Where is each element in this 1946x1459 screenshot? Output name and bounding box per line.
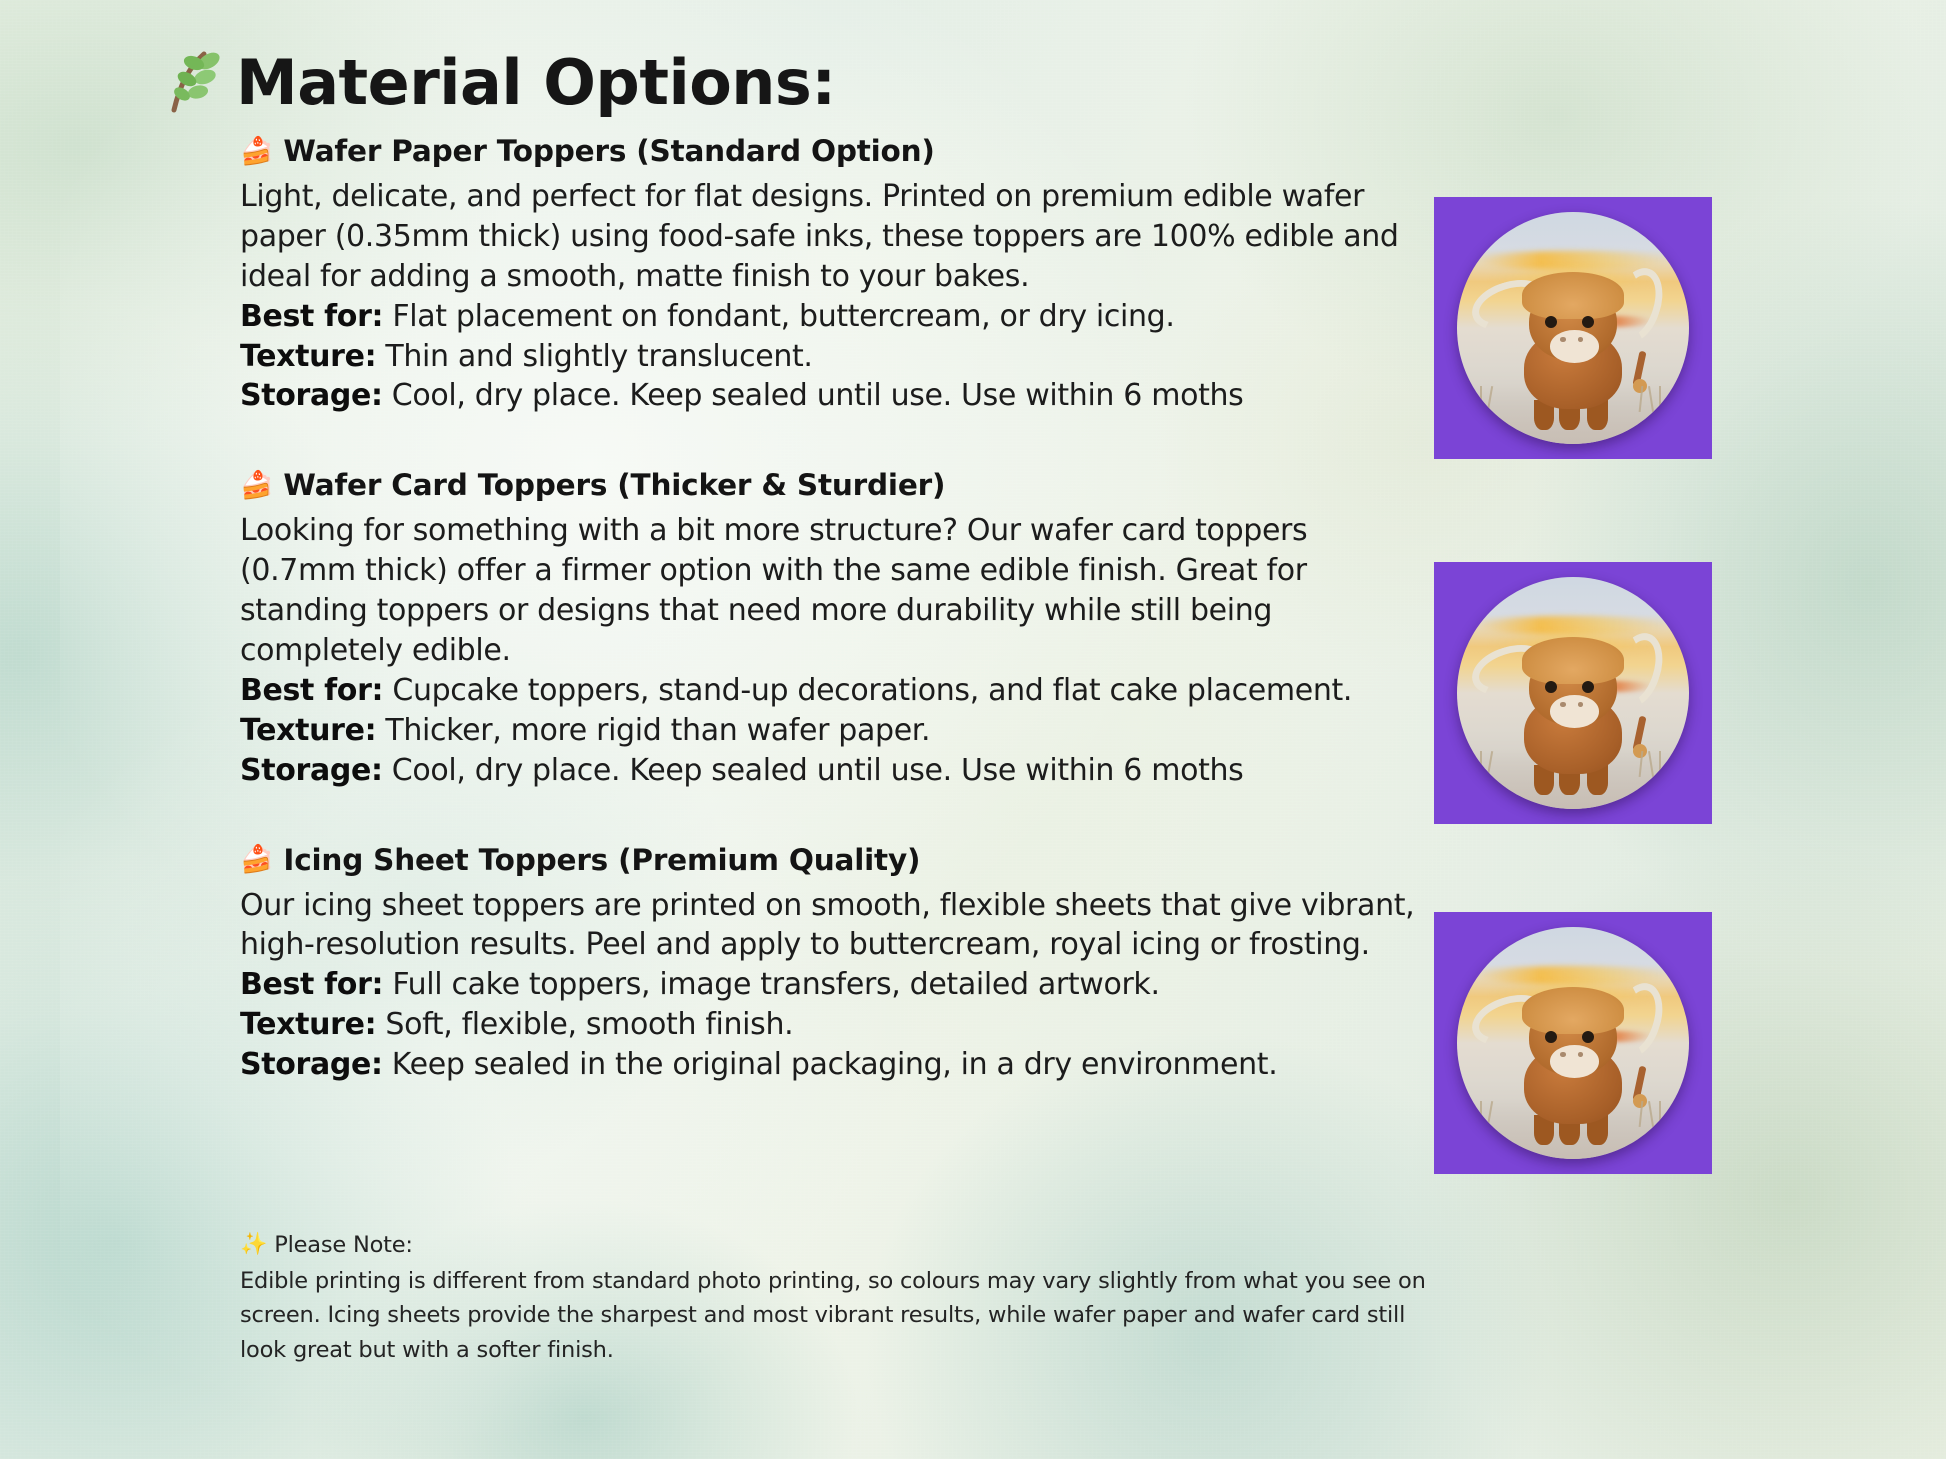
- section-heading: 🍰 Wafer Paper Toppers (Standard Option): [240, 134, 1430, 168]
- best-for-value: Cupcake toppers, stand-up decorations, a…: [383, 673, 1352, 708]
- cake-slice-icon: 🍰: [240, 472, 273, 499]
- product-photo-wafer-paper: [1434, 197, 1712, 459]
- storage-label: Storage:: [240, 1047, 383, 1082]
- texture-value: Thin and slightly translucent.: [376, 339, 812, 374]
- texture-value: Thicker, more rigid than wafer paper.: [376, 713, 930, 748]
- please-note-heading: ✨ Please Note:: [240, 1228, 1440, 1262]
- best-for-value: Flat placement on fondant, buttercream, …: [383, 299, 1174, 334]
- section-heading-text: Icing Sheet Toppers (Premium Quality): [283, 843, 920, 877]
- section-heading-text: Wafer Card Toppers (Thicker & Sturdier): [283, 468, 945, 502]
- cake-slice-icon: 🍰: [240, 138, 273, 165]
- product-photo-icing-sheet: [1434, 912, 1712, 1174]
- section-wafer-card: 🍰 Wafer Card Toppers (Thicker & Sturdier…: [240, 468, 1430, 790]
- page-title: Material Options:: [236, 52, 836, 114]
- sparkle-icon: ✨: [240, 1234, 267, 1256]
- highland-cow-topper-disc: [1457, 577, 1689, 809]
- texture-label: Texture:: [240, 339, 376, 374]
- texture-label: Texture:: [240, 1007, 376, 1042]
- storage-value: Keep sealed in the original packaging, i…: [383, 1047, 1278, 1082]
- section-heading: 🍰 Wafer Card Toppers (Thicker & Sturdier…: [240, 468, 1430, 502]
- section-body: Looking for something with a bit more st…: [240, 511, 1430, 790]
- highland-cow-topper-disc: [1457, 212, 1689, 444]
- section-heading: 🍰 Icing Sheet Toppers (Premium Quality): [240, 843, 1430, 877]
- herb-sprig-icon: [160, 48, 222, 118]
- best-for-label: Best for:: [240, 967, 383, 1002]
- storage-line: Storage: Keep sealed in the original pac…: [240, 1045, 1430, 1085]
- section-body: Our icing sheet toppers are printed on s…: [240, 886, 1430, 1085]
- page-header: Material Options:: [160, 48, 836, 118]
- page-content: Material Options: 🍰 Wafer Paper Toppers …: [0, 0, 1946, 1459]
- section-body: Light, delicate, and perfect for flat de…: [240, 177, 1430, 416]
- best-for-label: Best for:: [240, 299, 383, 334]
- texture-line: Texture: Thicker, more rigid than wafer …: [240, 711, 1430, 751]
- best-for-line: Best for: Flat placement on fondant, but…: [240, 297, 1430, 337]
- storage-line: Storage: Cool, dry place. Keep sealed un…: [240, 751, 1430, 791]
- product-photo-wafer-card: [1434, 562, 1712, 824]
- section-paragraph: Light, delicate, and perfect for flat de…: [240, 177, 1430, 297]
- best-for-value: Full cake toppers, image transfers, deta…: [383, 967, 1159, 1002]
- highland-cow-topper-disc: [1457, 927, 1689, 1159]
- section-paragraph: Our icing sheet toppers are printed on s…: [240, 886, 1430, 966]
- section-wafer-paper: 🍰 Wafer Paper Toppers (Standard Option) …: [240, 134, 1430, 416]
- section-icing-sheet: 🍰 Icing Sheet Toppers (Premium Quality) …: [240, 843, 1430, 1085]
- section-heading-text: Wafer Paper Toppers (Standard Option): [283, 134, 934, 168]
- storage-value: Cool, dry place. Keep sealed until use. …: [383, 753, 1244, 788]
- texture-label: Texture:: [240, 713, 376, 748]
- please-note-body: Edible printing is different from standa…: [240, 1264, 1440, 1367]
- cake-slice-icon: 🍰: [240, 846, 273, 873]
- storage-line: Storage: Cool, dry place. Keep sealed un…: [240, 376, 1430, 416]
- material-options-list: 🍰 Wafer Paper Toppers (Standard Option) …: [240, 134, 1430, 1137]
- section-paragraph: Looking for something with a bit more st…: [240, 511, 1430, 671]
- texture-value: Soft, flexible, smooth finish.: [376, 1007, 793, 1042]
- storage-value: Cool, dry place. Keep sealed until use. …: [383, 378, 1244, 413]
- best-for-label: Best for:: [240, 673, 383, 708]
- storage-label: Storage:: [240, 753, 383, 788]
- please-note-block: ✨ Please Note: Edible printing is differ…: [240, 1228, 1440, 1367]
- storage-label: Storage:: [240, 378, 383, 413]
- please-note-heading-text: Please Note:: [274, 1228, 413, 1262]
- best-for-line: Best for: Cupcake toppers, stand-up deco…: [240, 671, 1430, 711]
- texture-line: Texture: Soft, flexible, smooth finish.: [240, 1005, 1430, 1045]
- texture-line: Texture: Thin and slightly translucent.: [240, 337, 1430, 377]
- best-for-line: Best for: Full cake toppers, image trans…: [240, 965, 1430, 1005]
